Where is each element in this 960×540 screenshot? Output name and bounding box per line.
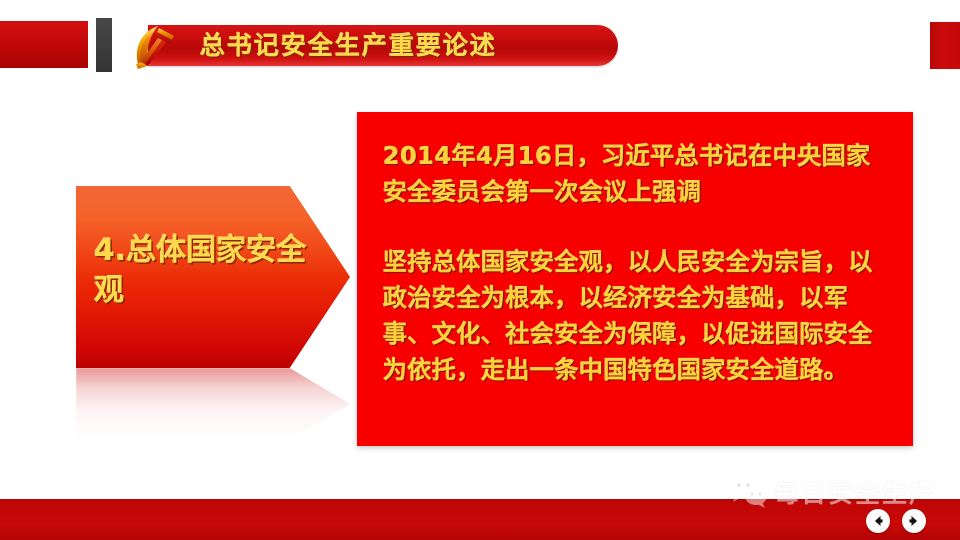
header-dark-accent-block [96, 18, 112, 72]
header-right-red-block [930, 22, 960, 69]
page-title: 总书记安全生产重要论述 [200, 29, 620, 63]
next-slide-button[interactable] [902, 509, 926, 533]
party-emblem-hammer-sickle-icon [128, 20, 184, 72]
section-arrow-banner: 4.总体国家安全观 [76, 186, 350, 368]
slide-navigation [866, 509, 926, 533]
section-arrow-label: 4.总体国家安全观 [94, 231, 316, 311]
content-panel: 2014年4月16日，习近平总书记在中央国家安全委员会第一次会议上强调 坚持总体… [357, 112, 913, 446]
header-left-red-block [0, 21, 88, 68]
arrow-right-icon [907, 514, 921, 528]
footer-bar [0, 499, 960, 540]
arrow-left-icon [871, 514, 885, 528]
content-body-paragraph: 坚持总体国家安全观，以人民安全为宗旨，以政治安全为根本，以经济安全为基础，以军事… [383, 244, 895, 388]
section-arrow-reflection [76, 368, 350, 440]
prev-slide-button[interactable] [866, 509, 890, 533]
content-text-wrapper: 2014年4月16日，习近平总书记在中央国家安全委员会第一次会议上强调 坚持总体… [383, 138, 895, 388]
slide-canvas: 总书记安全生产重要论述 4.总体国家安全观 2014年4月16日，习近平总书记在… [0, 0, 960, 540]
content-intro-paragraph: 2014年4月16日，习近平总书记在中央国家安全委员会第一次会议上强调 [383, 138, 895, 210]
